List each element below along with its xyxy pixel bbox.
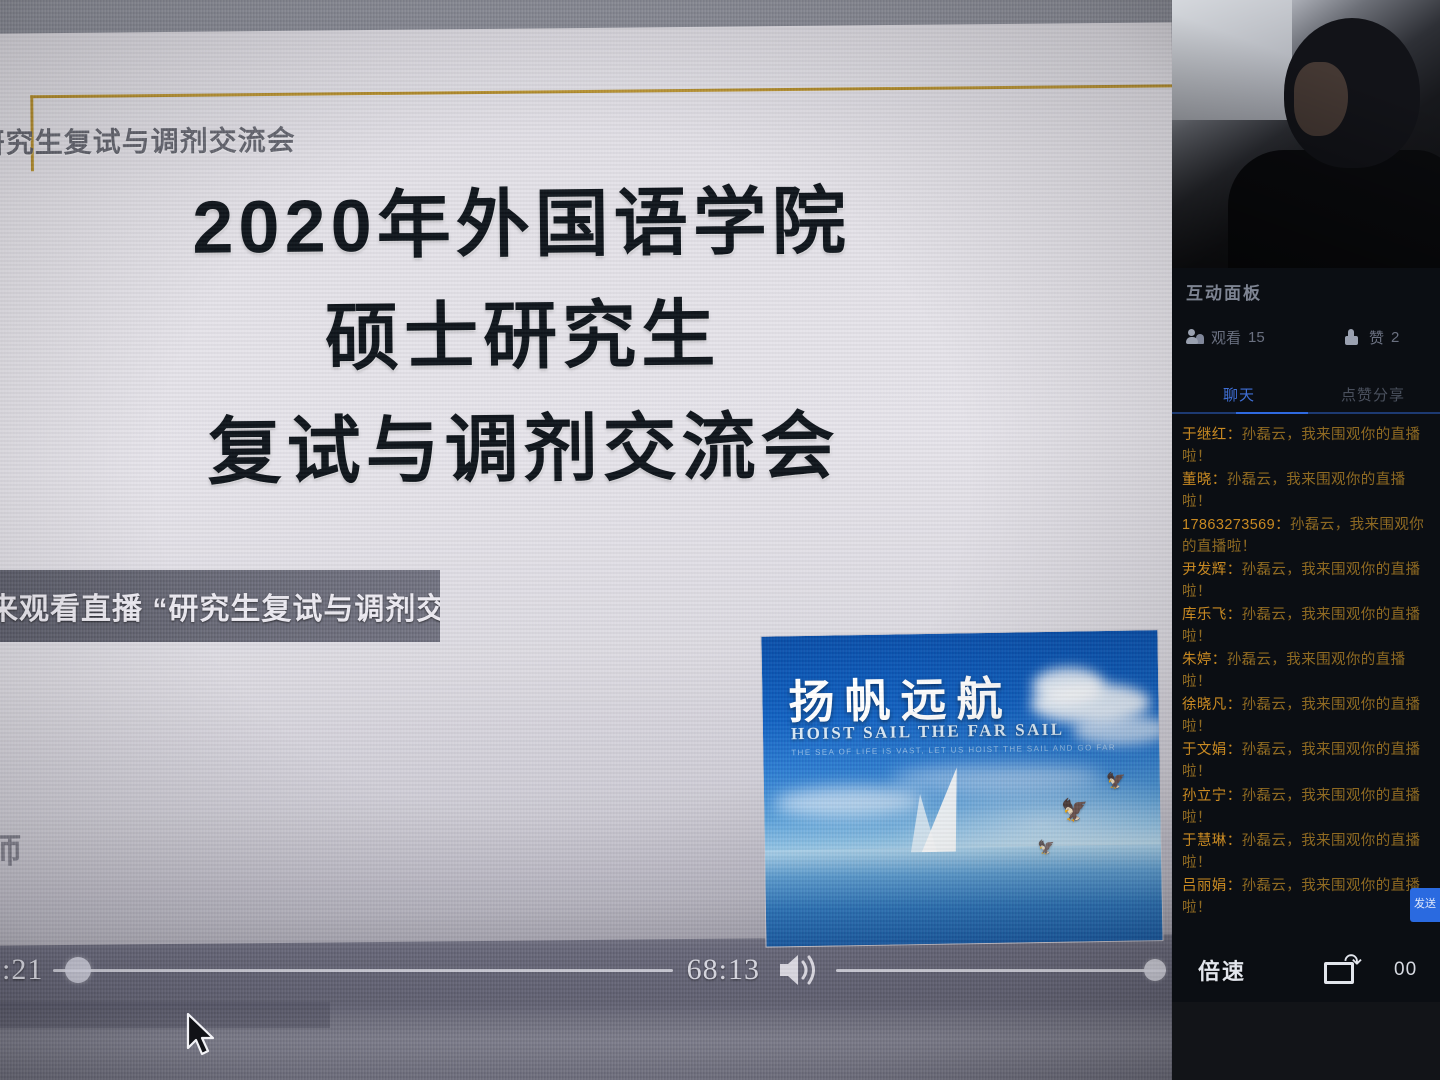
toast-text: 来观看直播 “研究生复试与调剂交 [0,584,440,628]
webcam-shadow [1172,0,1440,268]
footer-time-label: 00 [1394,959,1417,981]
chat-message: 朱婷：孙磊云，我来围观你的直播啦！ [1182,649,1432,693]
chat-message-name: 吕丽娟： [1182,878,1242,894]
chat-message-name: 孙立宁： [1182,788,1242,804]
current-time-label: 1:21 [0,953,43,987]
title-line-3: 复试与调剂交流会 [0,388,1054,511]
progress-track[interactable] [53,969,672,972]
sea-shape [765,844,1163,947]
panel-footer-controls[interactable]: 倍速 ↷ 00 [1172,938,1440,1002]
chat-message: 董晓：孙磊云，我来围观你的直播啦！ [1182,469,1432,513]
chat-message: 于文娟：孙磊云，我来围观你的直播啦！ [1182,739,1432,783]
viewer-count-label: 观看 [1211,327,1241,348]
playback-speed-button[interactable]: 倍速 [1198,954,1246,986]
seagull-icon: 🦅 [1061,797,1089,823]
cloud-shape [774,786,924,818]
picture-en-title: HOIST SAIL THE FAR SAIL [791,720,1065,745]
presentation-slide: 研究生复试与调剂交流会 2020年外国语学院 硕士研究生 复试与调剂交流会 师 … [0,22,1172,945]
viewer-count-value: 15 [1248,329,1265,346]
duration-label: 68:13 [687,953,760,987]
chat-message-name: 17863273569： [1182,517,1290,533]
slide-corner-label: 研究生复试与调剂交流会 [0,118,337,161]
volume-slider[interactable] [836,959,1166,981]
viewer-count: 观看 15 [1186,327,1306,348]
seagull-icon: 🦅 [1037,839,1055,856]
chat-message-name: 尹发辉： [1182,562,1242,578]
chat-message-name: 朱婷： [1182,652,1227,668]
chat-message: 尹发辉：孙磊云，我来围观你的直播啦！ [1182,559,1432,603]
like-count: 赞 2 [1344,327,1399,348]
player-controls[interactable]: 1:21 68:13 [0,938,1172,1002]
volume-track[interactable] [836,969,1166,972]
rotate-screen-icon[interactable]: ↷ [1324,956,1358,984]
chat-message-list[interactable]: 于继红：孙磊云，我来围观你的直播啦！董晓：孙磊云，我来围观你的直播啦！17863… [1172,418,1440,918]
chat-message: 孙立宁：孙磊云，我来围观你的直播啦！ [1182,785,1432,829]
tab-like-share[interactable]: 点赞分享 [1306,384,1440,414]
progress-slider[interactable] [53,957,672,983]
panel-bottom-bar [1172,1002,1440,1080]
cloud-shape [892,763,1102,792]
people-icon [1186,329,1204,345]
interaction-panel[interactable]: 互动面板 观看 15 赞 2 聊天 点赞分享 于继红：孙磊云，我来围观你的直播啦… [1172,0,1440,1080]
mouse-cursor [186,1012,220,1065]
thumbs-up-icon [1344,329,1362,345]
player-bottom-band [0,1002,1172,1080]
rotate-arrow: ↷ [1344,951,1362,973]
picture-en-subtitle: THE SEA OF LIFE IS VAST, LET US HOIST TH… [791,743,1116,757]
band-strip [0,1002,330,1028]
chat-message: 17863273569：孙磊云，我来围观你的直播啦！ [1182,514,1432,558]
seagull-icon: 🦅 [1106,771,1126,791]
title-line-1: 2020年外国语学院 [0,164,1052,287]
slide-edge-glyph: 师 [0,823,30,869]
speaker-icon[interactable] [776,950,822,990]
chat-message: 库乐飞：孙磊云，我来围观你的直播啦！ [1182,604,1432,648]
like-count-value: 2 [1391,329,1399,346]
chat-message: 吕丽娟：孙磊云，我来围观你的直播啦！ [1182,875,1432,918]
chat-message-name: 于继红： [1182,427,1242,443]
panel-title: 互动面板 [1172,268,1440,314]
tab-active-indicator [1236,412,1308,414]
chat-message: 于慧琳：孙磊云，我来围观你的直播啦！ [1182,830,1432,874]
panel-tabs[interactable]: 聊天 点赞分享 [1172,368,1440,414]
chat-message-name: 于文娟： [1182,742,1242,758]
monitor-photo: 研究生复试与调剂交流会 2020年外国语学院 硕士研究生 复试与调剂交流会 师 … [0,0,1440,1080]
chat-message-name: 库乐飞： [1182,607,1242,623]
chat-message: 徐晓凡：孙磊云，我来围观你的直播啦！ [1182,694,1432,738]
tab-chat[interactable]: 聊天 [1172,384,1306,414]
chat-message-name: 于慧琳： [1182,833,1242,849]
live-join-toast: 来观看直播 “研究生复试与调剂交 [0,570,440,642]
presenter-webcam[interactable] [1172,0,1440,268]
volume-handle[interactable] [1144,959,1166,981]
progress-handle[interactable] [65,957,91,983]
title-line-2: 硕士研究生 [0,276,1053,399]
panel-title-label: 互动面板 [1186,279,1262,304]
page-title: 2020年外国语学院 硕士研究生 复试与调剂交流会 [0,164,1054,512]
panel-stats: 观看 15 赞 2 [1172,316,1440,358]
video-player[interactable]: 研究生复试与调剂交流会 2020年外国语学院 硕士研究生 复试与调剂交流会 师 … [0,0,1172,1080]
cloud-shape [1073,714,1164,746]
chat-message: 于继红：孙磊云，我来围观你的直播啦！ [1182,424,1432,468]
like-count-label: 赞 [1369,327,1384,348]
sail-illustration: 🦅 🦅 🦅 扬帆远航 HOIST SAIL THE FAR SAIL THE S… [760,629,1163,948]
chat-message-name: 徐晓凡： [1182,697,1242,713]
send-button[interactable]: 发送 [1410,888,1440,922]
chat-message-name: 董晓： [1182,472,1227,488]
